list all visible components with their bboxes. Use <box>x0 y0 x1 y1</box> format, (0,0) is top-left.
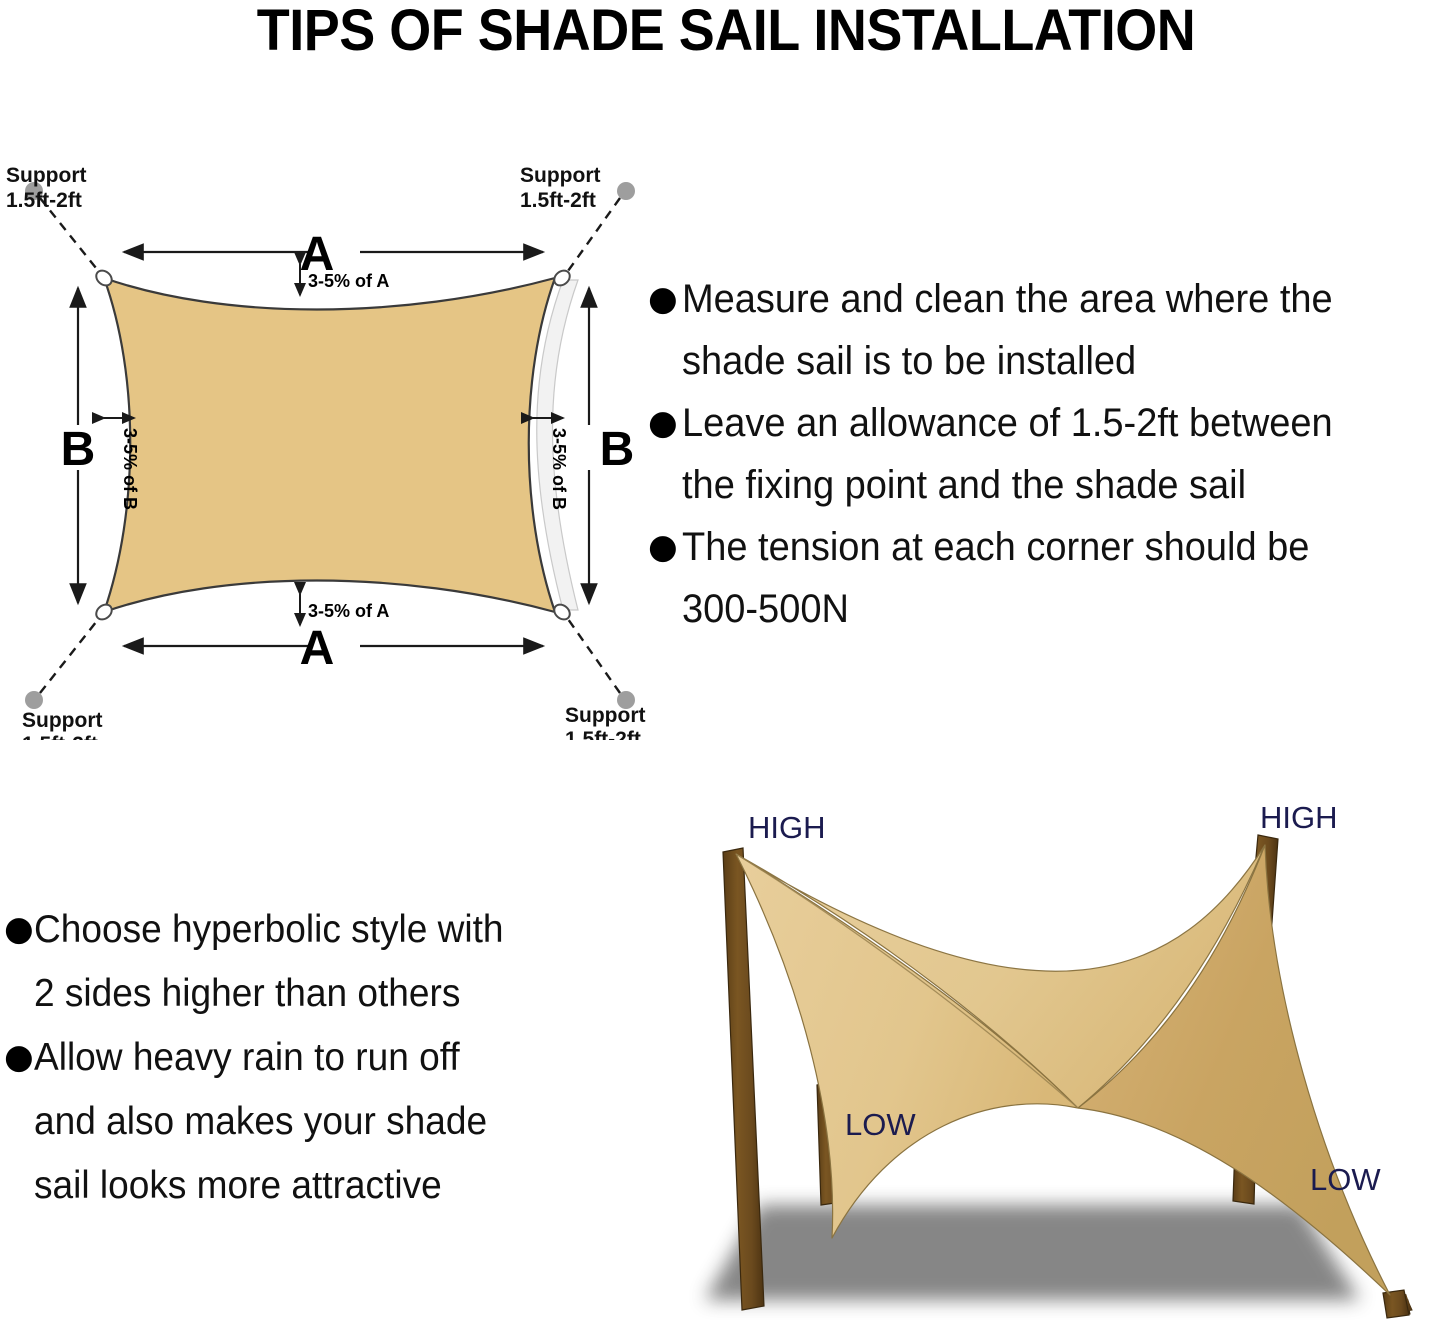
tip-line: and also makes your shade <box>34 1090 595 1154</box>
dim-note-bottom-A: 3-5% of A <box>308 601 389 621</box>
tip-item-continuation: shade sail is to be installed <box>648 330 1452 392</box>
tip-line: Leave an allowance of 1.5-2ft between <box>682 392 1421 454</box>
tip-line: The tension at each corner should be <box>682 516 1421 578</box>
tip-item: ● Choose hyperbolic style with <box>4 898 624 962</box>
bullet-icon: ● <box>4 898 34 960</box>
tip-item-continuation: the fixing point and the shade sail <box>648 454 1452 516</box>
support-line-bottom-right <box>563 612 620 693</box>
tip-line: 300-500N <box>682 578 1421 640</box>
support-dot-top-right <box>617 182 635 200</box>
tips-list-hyperbolic: ● Choose hyperbolic style with 2 sides h… <box>4 898 624 1218</box>
tip-line: Choose hyperbolic style with <box>34 898 595 962</box>
post-high-left <box>723 848 764 1310</box>
tip-line: shade sail is to be installed <box>682 330 1421 392</box>
support-label-top-left-line2: 1.5ft-2ft <box>6 189 82 212</box>
hyperbolic-sail-illustration: HIGH HIGH LOW LOW <box>660 790 1452 1325</box>
tip-item-continuation: 2 sides higher than others <box>4 962 624 1026</box>
support-label-top-left-line1: Support <box>6 164 86 187</box>
post-low-far-right-main <box>1383 1290 1409 1318</box>
rectangular-sail-diagram: Support 1.5ft-2ft Support 1.5ft-2ft Supp… <box>0 160 660 740</box>
tip-line: sail looks more attractive <box>34 1154 595 1218</box>
tip-item: ● Leave an allowance of 1.5-2ft between <box>648 392 1452 454</box>
label-low-right: LOW <box>1310 1162 1381 1197</box>
bullet-icon: ● <box>4 1026 34 1088</box>
page-title: TIPS OF SHADE SAIL INSTALLATION <box>51 0 1401 62</box>
tip-line: Measure and clean the area where the <box>682 268 1421 330</box>
label-low-left: LOW <box>845 1107 916 1142</box>
support-label-top-right-line1: Support <box>520 164 600 187</box>
dim-note-right-B: 3-5% of B <box>549 428 569 510</box>
tip-item: ● Allow heavy rain to run off <box>4 1026 624 1090</box>
dim-label-right-B: B <box>600 423 635 476</box>
tip-line: the fixing point and the shade sail <box>682 454 1421 516</box>
support-line-bottom-left <box>40 612 104 693</box>
support-label-top-right-line2: 1.5ft-2ft <box>520 189 596 212</box>
support-label-bottom-right-line2: 1.5ft-2ft <box>565 728 641 740</box>
label-high-right: HIGH <box>1260 800 1338 835</box>
dim-label-bottom-A: A <box>300 622 335 675</box>
sail-body <box>104 278 555 612</box>
label-high-left: HIGH <box>748 810 826 845</box>
tip-item: ● Measure and clean the area where the <box>648 268 1452 330</box>
dim-note-left-B: 3-5% of B <box>120 428 140 510</box>
dim-note-top-A: 3-5% of A <box>308 271 389 291</box>
tip-item-continuation: and also makes your shade <box>4 1090 624 1154</box>
tip-item-continuation: 300-500N <box>648 578 1452 640</box>
bullet-icon: ● <box>648 516 682 578</box>
bullet-icon: ● <box>648 392 682 454</box>
support-label-bottom-left-line1: Support <box>22 709 102 732</box>
tips-list-installation: ● Measure and clean the area where the s… <box>648 268 1452 640</box>
support-label-bottom-left-line2: 1.5ft-2ft <box>22 733 98 740</box>
bullet-icon: ● <box>648 268 682 330</box>
tip-item: ● The tension at each corner should be <box>648 516 1452 578</box>
support-label-bottom-right-line1: Support <box>565 704 645 727</box>
dim-label-left-B: B <box>61 423 96 476</box>
tip-line: Allow heavy rain to run off <box>34 1026 595 1090</box>
tip-item-continuation: sail looks more attractive <box>4 1154 624 1218</box>
support-dot-bottom-left <box>25 691 43 709</box>
tip-line: 2 sides higher than others <box>34 962 595 1026</box>
ground-shadow <box>705 1205 1360 1300</box>
